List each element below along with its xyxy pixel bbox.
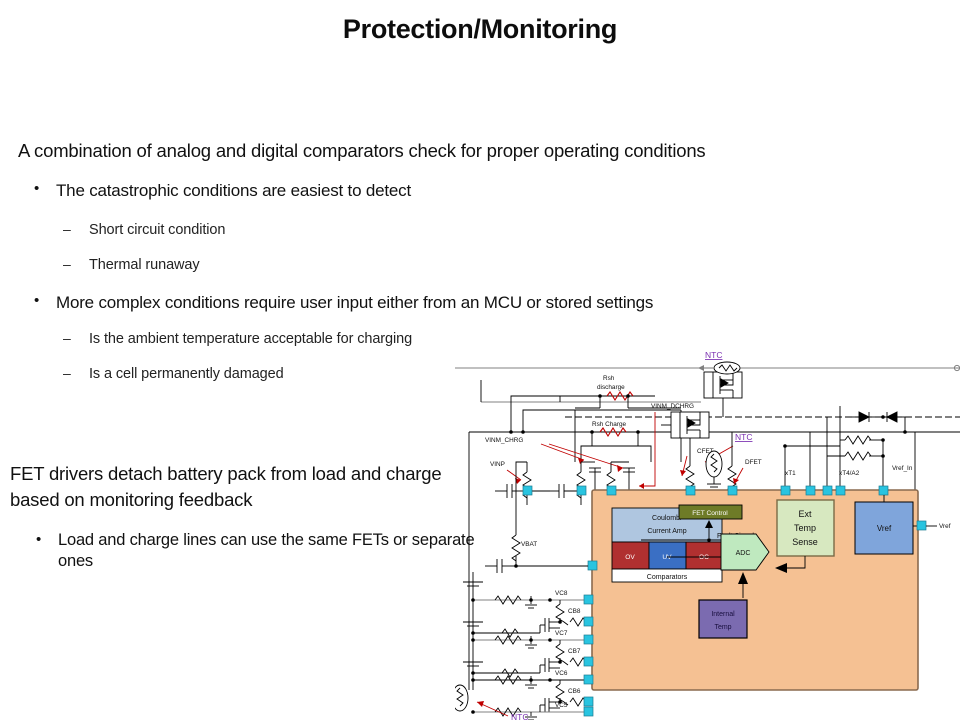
label-ntc-top: NTC [705,350,722,360]
label-vinm-chrg: VINM_CHRG [485,437,523,444]
bullet-text: The catastrophic conditions are easiest … [56,181,411,200]
pad-vref-out [917,521,926,530]
block-comparators-label: Comparators [647,574,688,581]
label-dfet: DFET [745,459,762,466]
label-vbat: VBAT [521,541,537,548]
schematic-image: Rsh discharge Rsh Charge VINM_DCHRG VINM… [455,350,960,720]
pad-vc5 [584,707,593,716]
pad-vc6 [584,675,593,684]
pad-cb6 [584,697,593,706]
pad-xt3 [823,486,832,495]
bullet-text: Short circuit condition [89,222,225,238]
label-xt1: xT1 [785,470,796,477]
bullet-l2-2: – Thermal runaway [89,257,200,273]
block-uv-label: UV [662,554,672,561]
bullet-marker: • [34,180,39,197]
block-coulomb-label-1: Coulomb/ [652,515,682,522]
bullet-l1-2: • More complex conditions require user i… [56,293,653,313]
label-vc8: VC8 [555,590,568,597]
block-ov-label: OV [625,554,635,561]
pad-vc7 [584,635,593,644]
dash-marker: – [63,221,71,237]
block-fet-control-label: FET Control [692,510,728,517]
label-vref-in: Vref_In [892,465,913,472]
block-internal-temp [699,600,747,638]
bullet-text: Is a cell permanently damaged [89,366,284,382]
bullet-l2-1: – Short circuit condition [89,222,225,238]
bullet-marker: • [36,529,41,550]
lower-heading: FET drivers detach battery pack from loa… [10,461,480,513]
label-xt4a2: xT4/A2 [839,470,860,477]
pad-dfet [728,486,737,495]
lower-bullet: • Load and charge lines can use the same… [58,530,478,572]
block-ext-temp-label-2: Temp [794,523,816,533]
label-vc6: VC6 [555,670,568,677]
label-rsh-discharge-l1: Rsh [603,375,615,382]
bullet-text: Thermal runaway [89,257,200,273]
bullet-l2-4: – Is a cell permanently damaged [89,366,284,382]
pad-xt2 [806,486,815,495]
bullet-text: More complex conditions require user inp… [56,293,653,312]
label-cb8: CB8 [568,608,581,615]
pad-xt1 [781,486,790,495]
block-coulomb-label-2: Current Amp [647,528,686,535]
block-adc-label: ADC [736,550,751,557]
label-vinm-dchrg: VINM_DCHRG [651,403,694,410]
dash-marker: – [63,256,71,272]
label-rsh-charge: Rsh Charge [592,421,627,428]
bullet-text: Load and charge lines can use the same F… [58,531,474,570]
dash-marker: – [63,330,71,346]
block-vref-label: Vref [877,524,892,533]
pad-cb7 [584,657,593,666]
pad-vinm-chrg [577,486,586,495]
slide-canvas: Protection/Monitoring A combination of a… [0,0,960,720]
pad-xt4a2 [836,486,845,495]
pad-cfet [686,486,695,495]
bullet-l1-1: • The catastrophic conditions are easies… [56,181,411,201]
label-cb7: CB7 [568,648,581,655]
label-vc5: VC5 [555,702,568,709]
label-rsh-discharge-l2: discharge [597,384,625,391]
label-ntc-bottom: NTC [511,712,528,720]
label-ntc-middle: NTC [735,432,752,442]
block-internal-temp-label-2: Temp [714,624,731,631]
label-cb6: CB6 [568,688,581,695]
block-ext-temp-label-1: Ext [798,509,812,519]
bullet-text: Is the ambient temperature acceptable fo… [89,331,412,347]
pad-vc8 [584,595,593,604]
bullet-marker: • [34,292,39,309]
bullet-l2-3: – Is the ambient temperature acceptable … [89,331,412,347]
pad-cb8 [584,617,593,626]
block-oc-label: OC [699,554,709,561]
dash-marker: – [63,365,71,381]
pad-vbat [588,561,597,570]
block-ext-temp-label-3: Sense [792,537,818,547]
pad-vinp [523,486,532,495]
label-vref-out: Vref [939,523,951,530]
lead-paragraph: A combination of analog and digital comp… [18,140,958,162]
pad-vinm-dchrg [607,486,616,495]
pad-vref-in [879,486,888,495]
block-internal-temp-label-1: Internal [711,611,735,618]
page-title: Protection/Monitoring [0,14,960,45]
label-vinp: VINP [490,461,505,468]
label-vc7: VC7 [555,630,568,637]
